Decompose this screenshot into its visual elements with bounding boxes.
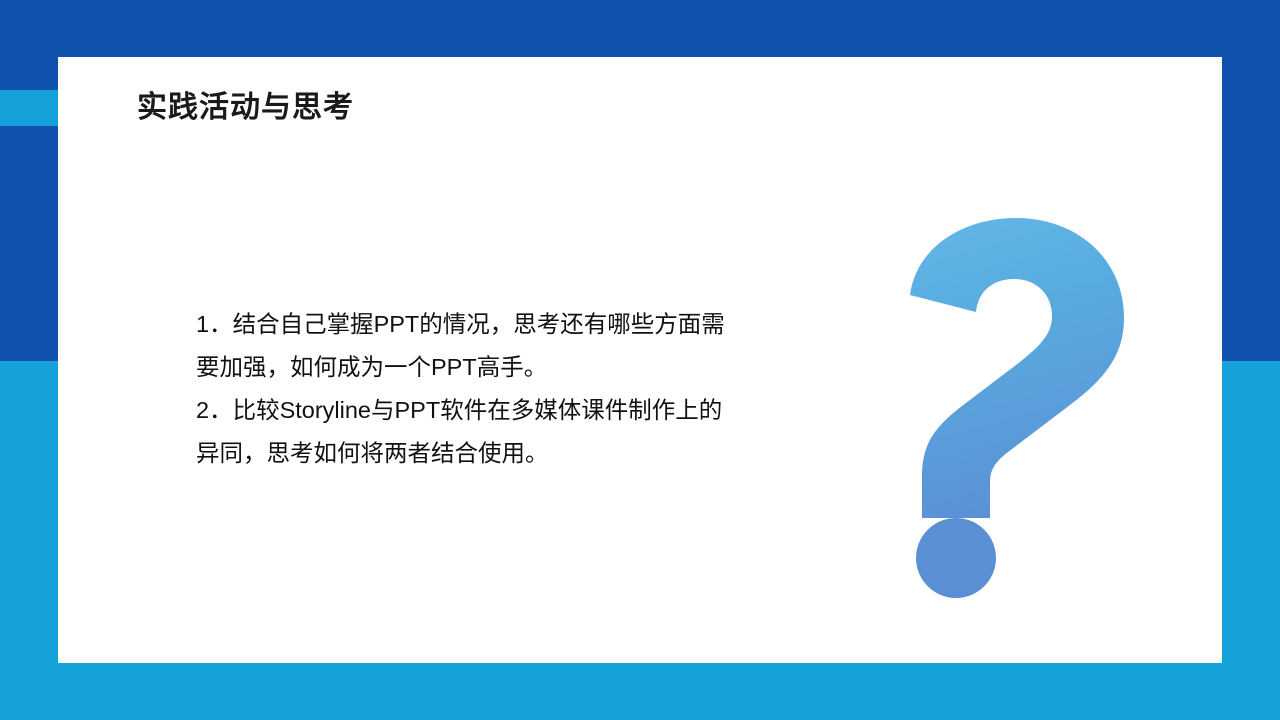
body-line: 要加强，如何成为一个PPT高手。 — [196, 346, 796, 389]
slide-canvas: 实践活动与思考 1．结合自己掌握PPT的情况，思考还有哪些方面需 要加强，如何成… — [0, 0, 1280, 720]
question-mark-icon — [880, 200, 1160, 600]
page-title: 实践活动与思考 — [137, 88, 354, 128]
body-line: 2．比较Storyline与PPT软件在多媒体课件制作上的 — [196, 389, 796, 432]
body-line: 1．结合自己掌握PPT的情况，思考还有哪些方面需 — [196, 303, 796, 346]
body-line: 异同，思考如何将两者结合使用。 — [196, 432, 796, 475]
body-text-block: 1．结合自己掌握PPT的情况，思考还有哪些方面需 要加强，如何成为一个PPT高手… — [196, 303, 796, 475]
